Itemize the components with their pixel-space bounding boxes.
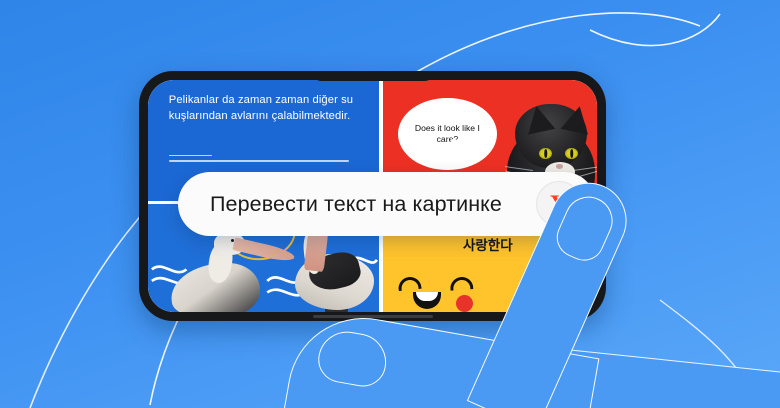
promo-illustration: Pelikanlar da zaman zaman diğer su kuşla… bbox=[0, 0, 780, 408]
turkish-placeholder-lines bbox=[169, 155, 365, 166]
emoji-mouth-icon bbox=[413, 292, 441, 309]
emoji-eye-left-icon bbox=[398, 276, 422, 291]
search-bar[interactable]: Перевести текст на картинке Y bbox=[178, 172, 596, 236]
turkish-text: Pelikanlar da zaman zaman diğer su kuşla… bbox=[169, 93, 363, 125]
search-input[interactable]: Перевести текст на картинке bbox=[210, 192, 502, 217]
phone-notch bbox=[314, 72, 432, 81]
emoji-blush-icon bbox=[456, 295, 473, 312]
pelican-left bbox=[171, 230, 277, 312]
speech-bubble-tail bbox=[451, 139, 469, 148]
speech-bubble: Does it look like I care? bbox=[398, 98, 496, 170]
emoji-eye-right-icon bbox=[449, 277, 473, 292]
korean-line-2: 사랑한다 bbox=[396, 237, 593, 255]
yandex-y-icon: Y bbox=[550, 192, 568, 217]
speech-bubble-text: Does it look like I care? bbox=[398, 123, 496, 146]
yandex-logo-button[interactable]: Y bbox=[536, 181, 582, 227]
phone-speaker-bar bbox=[313, 315, 433, 318]
